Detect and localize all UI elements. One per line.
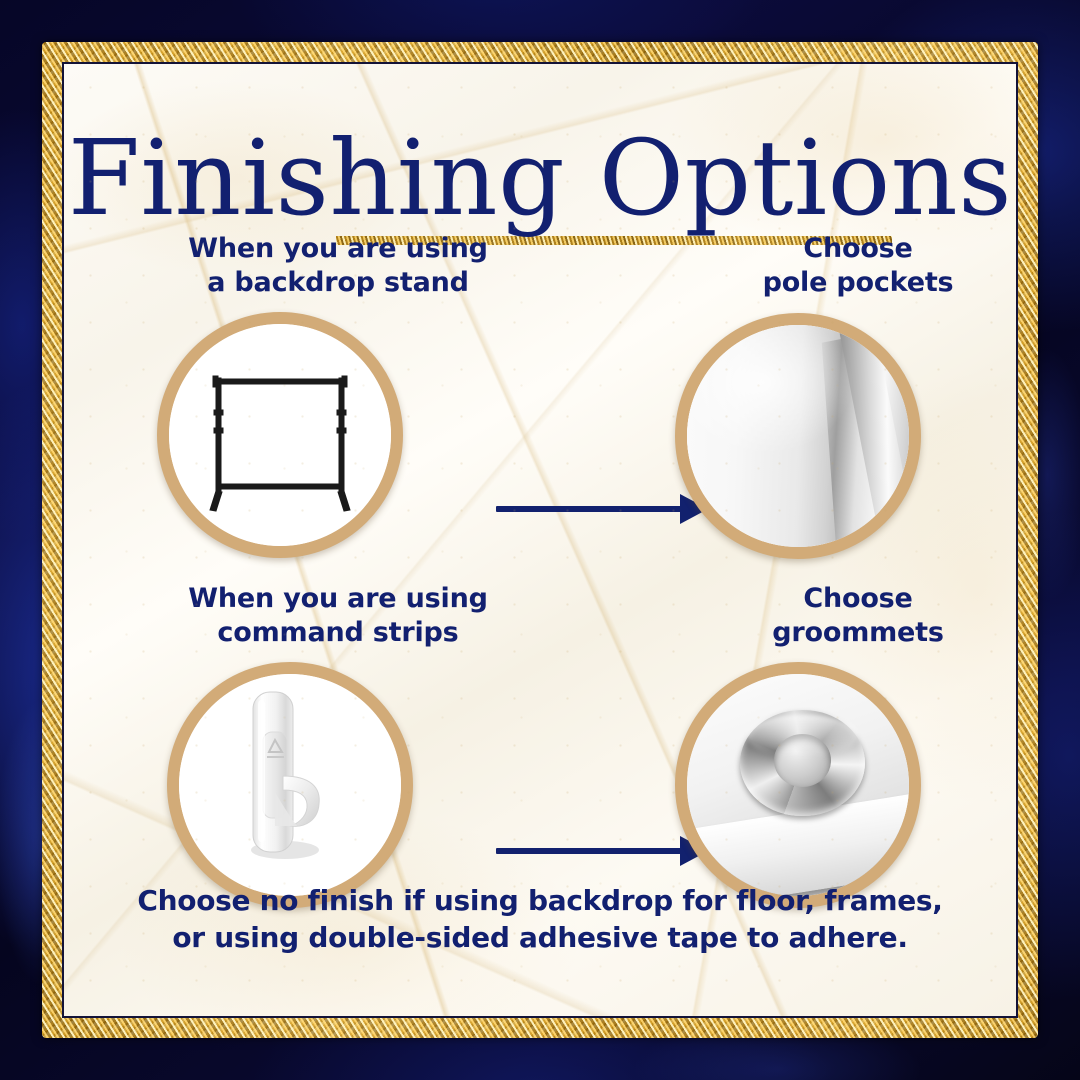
row-1-right-label-line-1: Choose (684, 232, 1016, 266)
page-title: Finishing Options (64, 126, 1016, 230)
row-1-right-label-line-2: pole pockets (684, 266, 1016, 300)
row-1-left-label-line-1: When you are using (164, 232, 512, 266)
grommet-specular-highlight (747, 714, 858, 758)
medallion-grommets[interactable] (675, 662, 921, 908)
medallion-command-hook[interactable] (167, 662, 413, 908)
row-2-left-label-line-1: When you are using (164, 582, 512, 616)
row-1-left-label: When you are using a backdrop stand (164, 232, 512, 300)
row-2-left-label: When you are using command strips (164, 582, 512, 650)
poster-canvas: Finishing Options When you are using a b… (0, 0, 1080, 1080)
grommet-photo (687, 674, 909, 896)
caption-line-2: or using double-sided adhesive tape to a… (64, 920, 1016, 956)
backdrop-stand-illustration (169, 324, 391, 546)
command-hook-svg (179, 674, 401, 896)
medallion-pole-pockets[interactable] (675, 313, 921, 559)
backdrop-stand-svg (169, 324, 391, 546)
row-1-arrow (496, 494, 708, 524)
row-2-right-label-line-2: groommets (684, 616, 1016, 650)
marble-card: Finishing Options When you are using a b… (64, 64, 1016, 1016)
row-2-left-label-line-2: command strips (164, 616, 512, 650)
row-2-arrow-shaft (496, 848, 682, 854)
row-2-right-label-line-1: Choose (684, 582, 1016, 616)
row-1-right-label: Choose pole pockets (684, 232, 1016, 300)
row-1-left-label-line-2: a backdrop stand (164, 266, 512, 300)
bottom-caption: Choose no finish if using backdrop for f… (64, 883, 1016, 956)
row-1-arrow-shaft (496, 506, 682, 512)
pole-pocket-fabric-photo (687, 325, 909, 547)
medallion-backdrop-stand[interactable] (157, 312, 403, 558)
poster-content: Finishing Options When you are using a b… (64, 64, 1016, 1016)
row-2-right-label: Choose groommets (684, 582, 1016, 650)
row-2-arrow (496, 836, 708, 866)
command-hook-photo (179, 674, 401, 896)
fabric-highlight (687, 325, 909, 547)
caption-line-1: Choose no finish if using backdrop for f… (64, 883, 1016, 919)
